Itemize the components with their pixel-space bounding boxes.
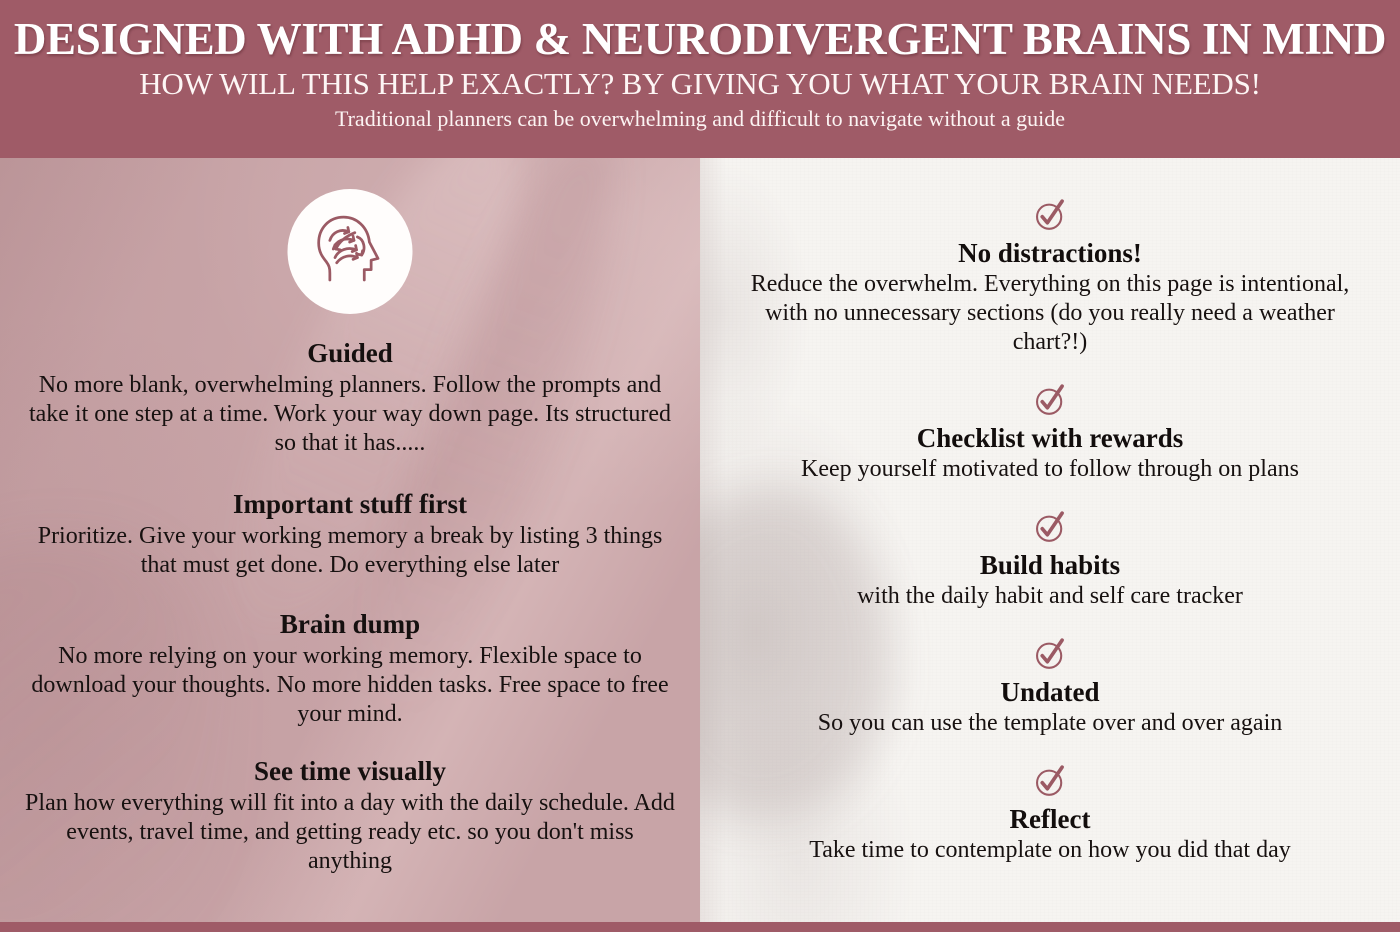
left-block-guided: Guided No more blank, overwhelming plann… xyxy=(22,337,678,458)
left-block-important-stuff-first: Important stuff first Prioritize. Give y… xyxy=(22,488,678,580)
infographic-page: DESIGNED WITH ADHD & NEURODIVERGENT BRAI… xyxy=(0,0,1400,932)
circled-checkmark-icon xyxy=(730,194,1370,236)
circled-checkmark-icon xyxy=(730,506,1370,548)
right-item-reflect: Reflect Take time to contemplate on how … xyxy=(730,760,1370,865)
right-item-body: Keep yourself motivated to follow throug… xyxy=(730,455,1370,484)
right-item-body: Take time to contemplate on how you did … xyxy=(730,836,1370,865)
right-item-title: Undated xyxy=(730,676,1370,708)
right-item-title: Reflect xyxy=(730,803,1370,835)
right-item-title: No distractions! xyxy=(730,237,1370,269)
right-items: No distractions! Reduce the overwhelm. E… xyxy=(700,194,1400,865)
right-item-title: Build habits xyxy=(730,549,1370,581)
left-block-body: No more blank, overwhelming planners. Fo… xyxy=(22,371,678,458)
left-block-see-time-visually: See time visually Plan how everything wi… xyxy=(22,755,678,876)
left-block-body: No more relying on your working memory. … xyxy=(22,642,678,729)
right-item-checklist-with-rewards: Checklist with rewards Keep yourself mot… xyxy=(730,379,1370,484)
circled-checkmark-icon xyxy=(730,633,1370,675)
right-item-build-habits: Build habits with the daily habit and se… xyxy=(730,506,1370,611)
left-block-body: Plan how everything will fit into a day … xyxy=(22,789,678,876)
left-block-brain-dump: Brain dump No more relying on your worki… xyxy=(22,608,678,729)
right-item-no-distractions: No distractions! Reduce the overwhelm. E… xyxy=(730,194,1370,357)
right-item-body: Reduce the overwhelm. Everything on this… xyxy=(730,270,1370,357)
circled-checkmark-icon xyxy=(730,379,1370,421)
header-tagline: Traditional planners can be overwhelming… xyxy=(0,106,1400,132)
bottom-accent-bar xyxy=(0,922,1400,932)
header-band: DESIGNED WITH ADHD & NEURODIVERGENT BRAI… xyxy=(0,0,1400,158)
left-block-title: Brain dump xyxy=(22,608,678,640)
header-subtitle: HOW WILL THIS HELP EXACTLY? BY GIVING YO… xyxy=(0,66,1400,102)
left-block-title: Important stuff first xyxy=(22,488,678,520)
right-item-body: So you can use the template over and ove… xyxy=(730,709,1370,738)
right-panel: No distractions! Reduce the overwhelm. E… xyxy=(700,158,1400,922)
page-title: DESIGNED WITH ADHD & NEURODIVERGENT BRAI… xyxy=(0,14,1400,64)
left-block-title: Guided xyxy=(22,337,678,369)
content-columns: Guided No more blank, overwhelming plann… xyxy=(0,158,1400,922)
left-blocks: Guided No more blank, overwhelming plann… xyxy=(0,158,700,876)
left-panel: Guided No more blank, overwhelming plann… xyxy=(0,158,700,922)
circled-checkmark-icon xyxy=(730,760,1370,802)
left-block-title: See time visually xyxy=(22,755,678,787)
left-block-body: Prioritize. Give your working memory a b… xyxy=(22,522,678,580)
right-item-body: with the daily habit and self care track… xyxy=(730,582,1370,611)
right-item-title: Checklist with rewards xyxy=(730,422,1370,454)
right-item-undated: Undated So you can use the template over… xyxy=(730,633,1370,738)
